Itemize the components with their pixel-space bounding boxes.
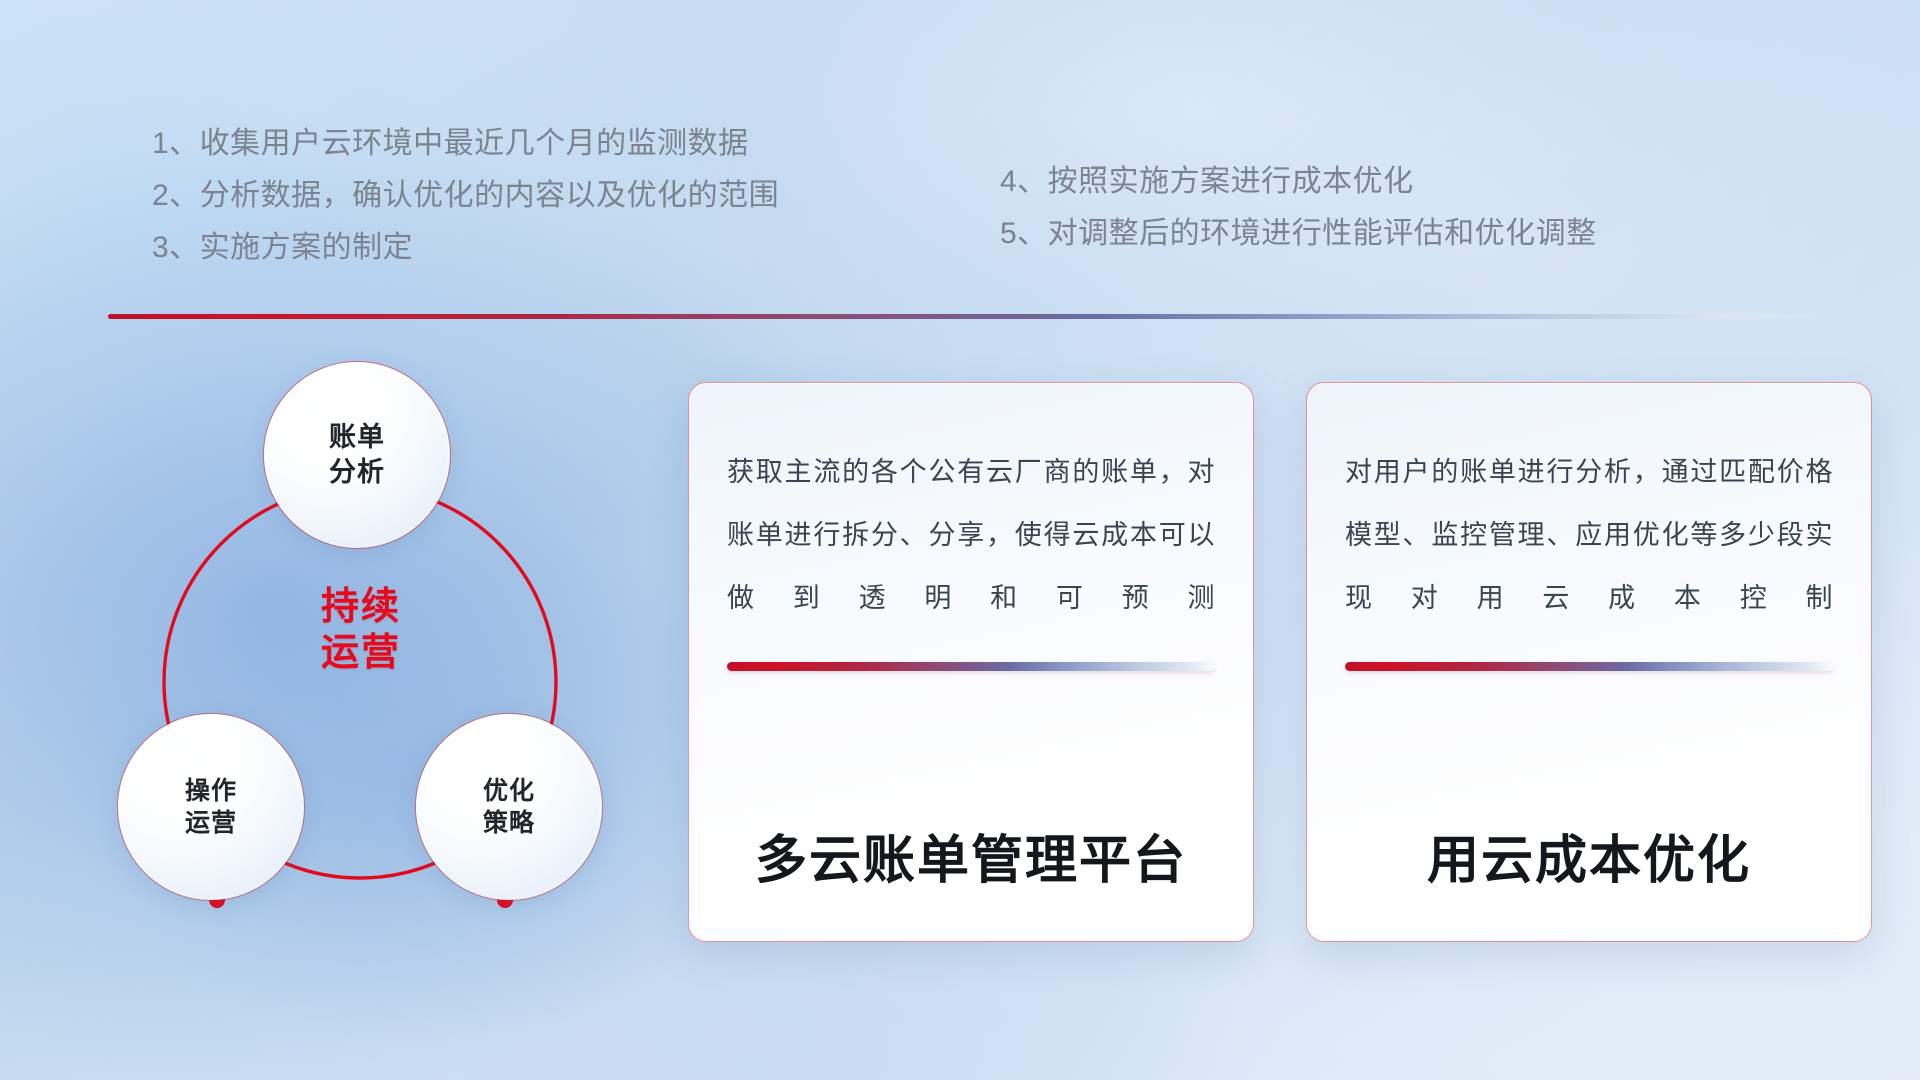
bubble-operations[interactable]: 操作 运营: [118, 714, 304, 900]
bubble-label-line2: 分析: [329, 455, 385, 490]
bubble-label-line2: 运营: [185, 807, 237, 839]
card-accent-rule: [1345, 662, 1833, 671]
step-item-2: 2、分析数据，确认优化的内容以及优化的范围: [152, 170, 779, 222]
center-label-line1: 持续: [276, 584, 446, 630]
bubble-label-line1: 账单: [329, 420, 385, 455]
bubble-billing-analysis[interactable]: 账单 分析: [264, 362, 450, 548]
bubble-label-line1: 操作: [185, 775, 237, 807]
card-title: 多云账单管理平台: [727, 818, 1215, 911]
bubble-label-line1: 优化: [483, 775, 535, 807]
section-divider: [108, 314, 1838, 319]
feature-card-cost-optimization[interactable]: 对用户的账单进行分析，通过匹配价格模型、监控管理、应用优化等多少段实现对用云成本…: [1306, 382, 1872, 942]
steps-column-right: 4、按照实施方案进行成本优化 5、对调整后的环境进行性能评估和优化调整: [1000, 156, 1597, 260]
continuous-operations-diagram: 账单 分析 操作 运营 优化 策略 持续 运营: [96, 352, 696, 972]
diagram-center-label: 持续 运营: [276, 584, 446, 677]
step-item-1: 1、收集用户云环境中最近几个月的监测数据: [152, 118, 779, 170]
feature-card-multicloud-billing[interactable]: 获取主流的各个公有云厂商的账单，对账单进行拆分、分享，使得云成本可以做到透明和可…: [688, 382, 1254, 942]
card-body-text: 对用户的账单进行分析，通过匹配价格模型、监控管理、应用优化等多少段实现对用云成本…: [1345, 441, 1833, 630]
card-accent-rule: [727, 662, 1215, 671]
center-label-line2: 运营: [276, 630, 446, 676]
step-item-3: 3、实施方案的制定: [152, 222, 779, 274]
step-item-5: 5、对调整后的环境进行性能评估和优化调整: [1000, 208, 1597, 260]
step-item-4: 4、按照实施方案进行成本优化: [1000, 156, 1597, 208]
bubble-label-line2: 策略: [483, 807, 535, 839]
slide-canvas: 1、收集用户云环境中最近几个月的监测数据 2、分析数据，确认优化的内容以及优化的…: [0, 0, 1920, 1080]
card-title: 用云成本优化: [1345, 818, 1833, 911]
steps-column-left: 1、收集用户云环境中最近几个月的监测数据 2、分析数据，确认优化的内容以及优化的…: [152, 118, 779, 274]
card-body-text: 获取主流的各个公有云厂商的账单，对账单进行拆分、分享，使得云成本可以做到透明和可…: [727, 441, 1215, 630]
bubble-optimization-strategy[interactable]: 优化 策略: [416, 714, 602, 900]
